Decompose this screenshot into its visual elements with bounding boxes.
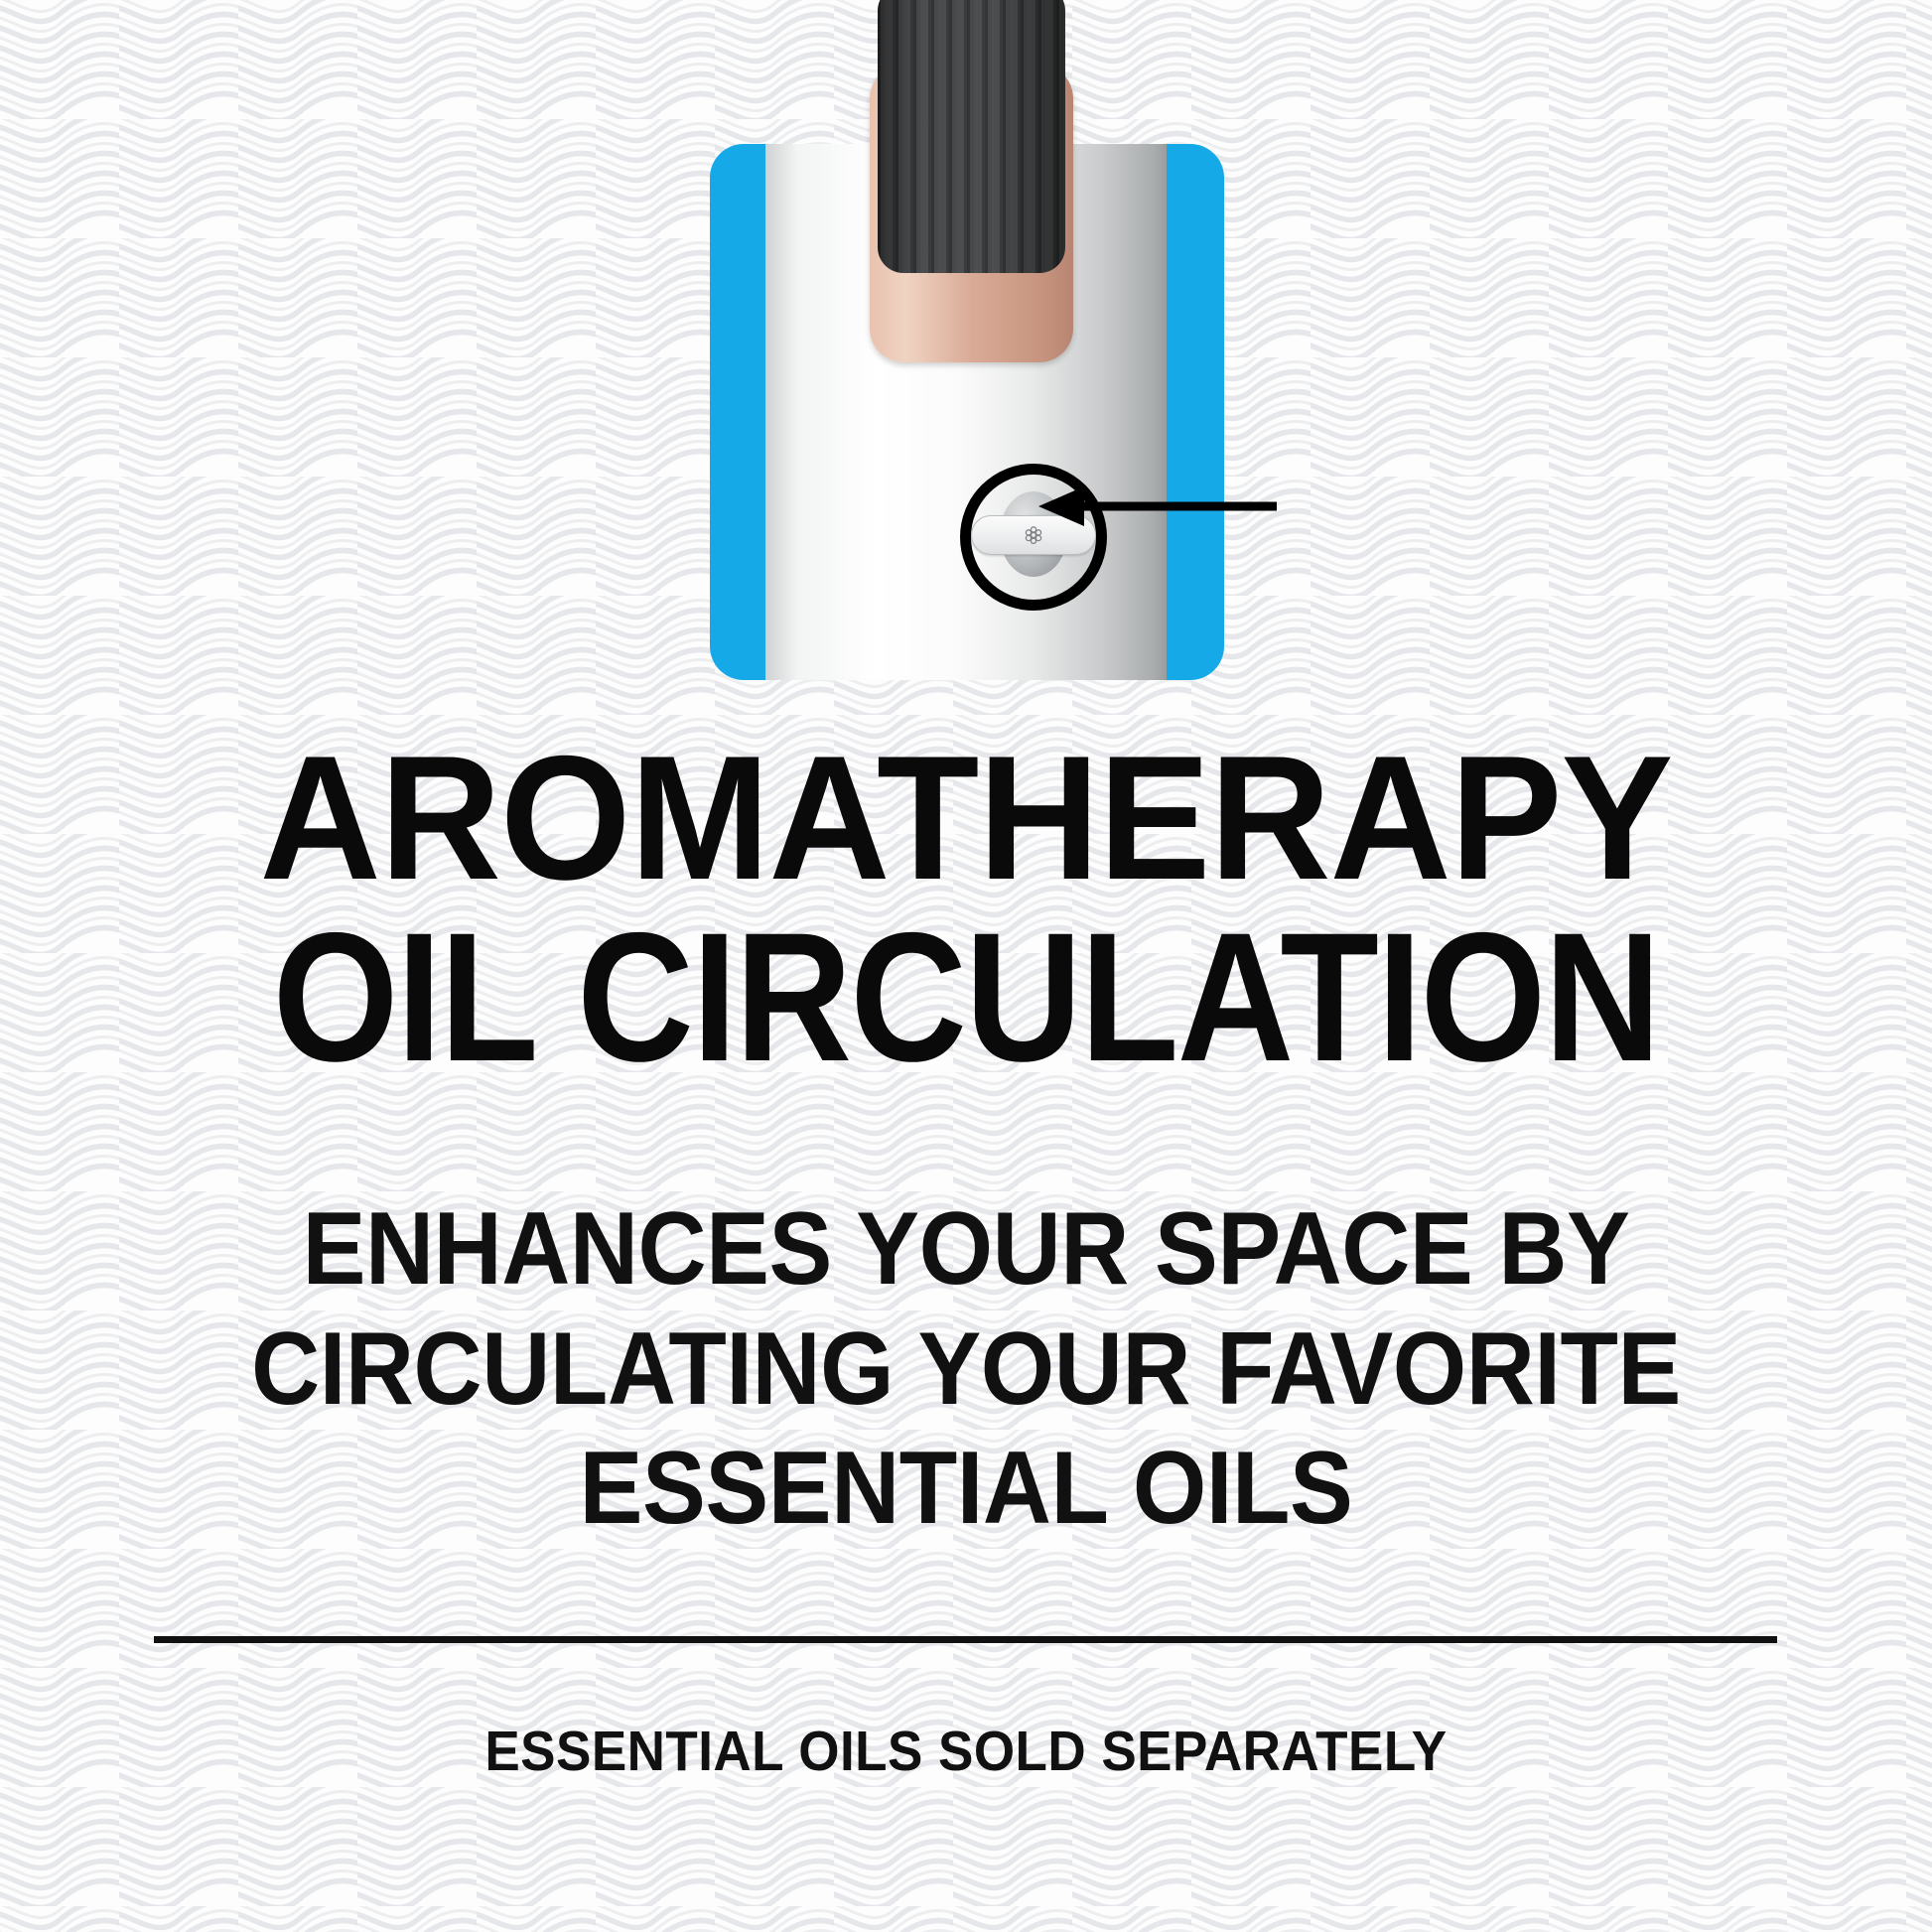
subheading-group: ENHANCES YOUR SPACE BY CIRCULATING YOUR … [0,1189,1932,1549]
subheading-line-2: CIRCULATING YOUR FAVORITE [77,1310,1855,1430]
product-hero-image [710,144,1224,680]
device-body [765,144,1167,680]
callout-arrow-left-icon [1038,484,1277,528]
headline-line-1: AROMATHERAPY [49,737,1884,899]
subheading-line-3: ESSENTIAL OILS [77,1429,1855,1549]
grille-shading [878,0,1065,273]
headline-group: AROMATHERAPY OIL CIRCULATION [0,737,1932,1082]
footnote-disclaimer: ESSENTIAL OILS SOLD SEPARATELY [68,1719,1864,1784]
horizontal-divider [154,1636,1777,1643]
headline-line-2: OIL CIRCULATION [116,913,1816,1082]
air-vent-grille [878,0,1065,273]
rose-gold-trim [870,65,1073,362]
product-feature-card: AROMATHERAPY OIL CIRCULATION ENHANCES YO… [0,0,1932,1932]
subheading-line-1: ENHANCES YOUR SPACE BY [77,1189,1855,1310]
